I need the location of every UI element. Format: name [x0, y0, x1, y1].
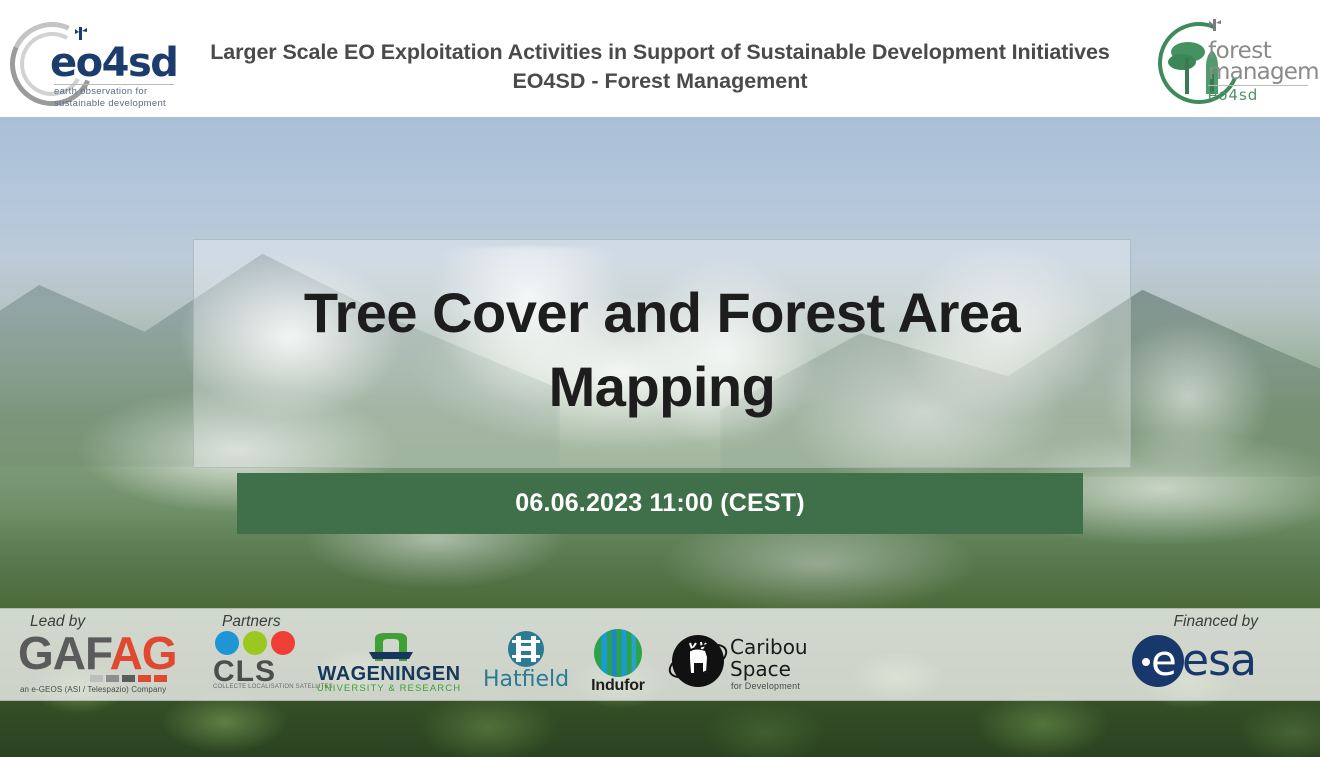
caribou-word3: for Development [731, 681, 800, 691]
satellite-icon [1202, 18, 1222, 36]
esa-glyph: e [1151, 640, 1177, 682]
wageningen-subtitle: UNIVERSITY & RESEARCH [313, 683, 465, 694]
header-title: Larger Scale EO Exploitation Activities … [180, 38, 1140, 96]
indufor-circle-icon [594, 629, 642, 677]
forest-management-word2: management [1208, 59, 1320, 85]
eo4sd-tagline-line1: earth observation for [54, 86, 147, 97]
date-text: 06.06.2023 11:00 (CEST) [515, 489, 805, 518]
financed-by-caption: Financed by [1174, 613, 1258, 631]
forest-management-word3: eo4sd [1208, 86, 1258, 104]
wageningen-mark-icon [369, 631, 413, 661]
header-title-line2: EO4SD - Forest Management [180, 66, 1140, 96]
eo4sd-wordmark: eo4sd [50, 40, 177, 86]
slide-title-box: Tree Cover and Forest Area Mapping [193, 239, 1131, 468]
gaf-wordmark-dark: GAF [18, 627, 110, 679]
partner-logo-hatfield: Hatfield [480, 631, 572, 697]
partner-logo-caribou-space: Caribou Space for Development [672, 631, 812, 697]
slide-footer: Lead by Partners Financed by GAFAG an e-… [0, 608, 1320, 701]
esa-wordmark: esa [1182, 639, 1256, 683]
hatfield-circle-icon [508, 631, 544, 667]
slide-title-line1: Tree Cover and Forest Area [304, 276, 1020, 350]
eo4sd-divider [54, 84, 174, 85]
gaf-color-squares [90, 675, 167, 682]
eo4sd-logo: eo4sd earth observation for sustainable … [6, 14, 178, 110]
caribou-word2: Space [730, 657, 791, 681]
date-banner: 06.06.2023 11:00 (CEST) [237, 473, 1083, 534]
partner-logo-wageningen: WAGENINGEN UNIVERSITY & RESEARCH [313, 631, 465, 699]
esa-logo: e esa [1132, 631, 1272, 693]
esa-dot-icon [1142, 658, 1150, 666]
gaf-ag-logo: GAFAG an e-GEOS (ASI / Telespazio) Compa… [18, 631, 186, 697]
eo4sd-tagline: earth observation for sustainable develo… [54, 86, 180, 110]
slide-header: eo4sd earth observation for sustainable … [0, 0, 1320, 117]
hatfield-wordmark: Hatfield [480, 667, 572, 692]
partner-logo-cls: CLS COLLECTE LOCALISATION SATELLITES [213, 631, 299, 699]
partners-caption: Partners [222, 613, 281, 631]
slide-title-line2: Mapping [549, 350, 776, 424]
caribou-word1: Caribou [730, 635, 808, 659]
gaf-wordmark-red: AG [110, 627, 177, 679]
gaf-tagline: an e-GEOS (ASI / Telespazio) Company [20, 685, 166, 694]
forest-management-logo: forest management eo4sd [1150, 14, 1316, 110]
partner-logo-indufor: Indufor [578, 629, 658, 697]
presentation-slide: eo4sd earth observation for sustainable … [0, 0, 1320, 757]
indufor-wordmark: Indufor [578, 677, 658, 695]
header-title-line1: Larger Scale EO Exploitation Activities … [180, 38, 1140, 66]
cls-dots-icon [215, 631, 295, 655]
eo4sd-tagline-line2: sustainable development [54, 98, 166, 109]
